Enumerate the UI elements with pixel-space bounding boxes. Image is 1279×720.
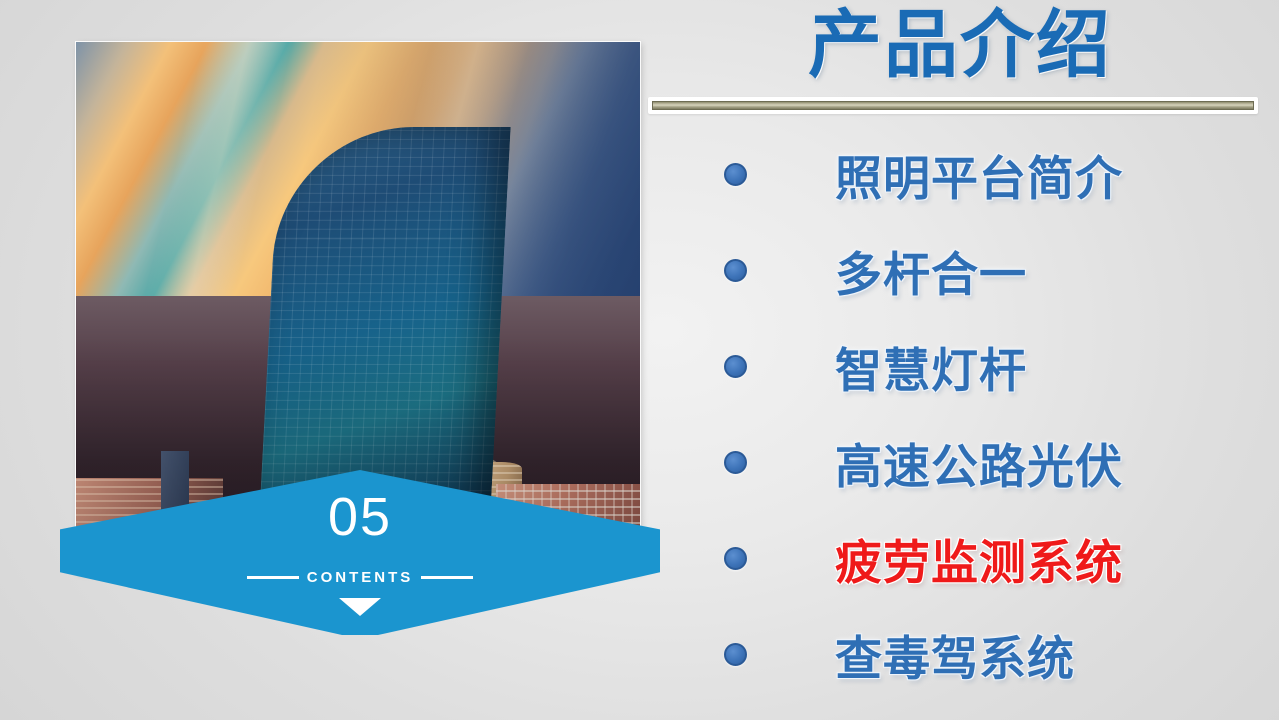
list-item[interactable]: 疲劳监测系统 (660, 510, 1260, 606)
contents-rule-right (421, 576, 473, 579)
list-item[interactable]: 多杆合一 (660, 222, 1260, 318)
list-item[interactable]: 照明平台简介 (660, 126, 1260, 222)
section-number: 05 (60, 490, 660, 544)
presentation-slide: 05 CONTENTS 产品介绍 照明平台简介 多杆合一 智慧灯杆 高速公路光伏… (0, 0, 1279, 720)
contents-label: CONTENTS (307, 569, 414, 586)
bullet-dot-icon (724, 547, 747, 570)
page-title: 产品介绍 (660, 4, 1260, 85)
bullet-label: 照明平台简介 (835, 140, 1123, 209)
title-divider (648, 97, 1258, 114)
contents-label-row: CONTENTS (60, 566, 660, 588)
bullet-label: 智慧灯杆 (835, 332, 1027, 401)
bullet-dot-icon (724, 355, 747, 378)
contents-rule-left (247, 576, 299, 579)
bullet-label: 查毒驾系统 (835, 620, 1075, 689)
bullet-label: 多杆合一 (835, 236, 1027, 305)
bullet-dot-icon (724, 451, 747, 474)
bullet-dot-icon (724, 643, 747, 666)
bullet-label-highlighted: 疲劳监测系统 (835, 524, 1123, 593)
list-item[interactable]: 智慧灯杆 (660, 318, 1260, 414)
list-item[interactable]: 查毒驾系统 (660, 606, 1260, 702)
divider-bar (652, 101, 1254, 110)
bullet-dot-icon (724, 259, 747, 282)
list-item[interactable]: 高速公路光伏 (660, 414, 1260, 510)
bullet-label: 高速公路光伏 (835, 428, 1123, 497)
bullet-dot-icon (724, 163, 747, 186)
bullet-list: 照明平台简介 多杆合一 智慧灯杆 高速公路光伏 疲劳监测系统 查毒驾系统 (660, 126, 1260, 702)
down-triangle-icon (60, 598, 660, 621)
